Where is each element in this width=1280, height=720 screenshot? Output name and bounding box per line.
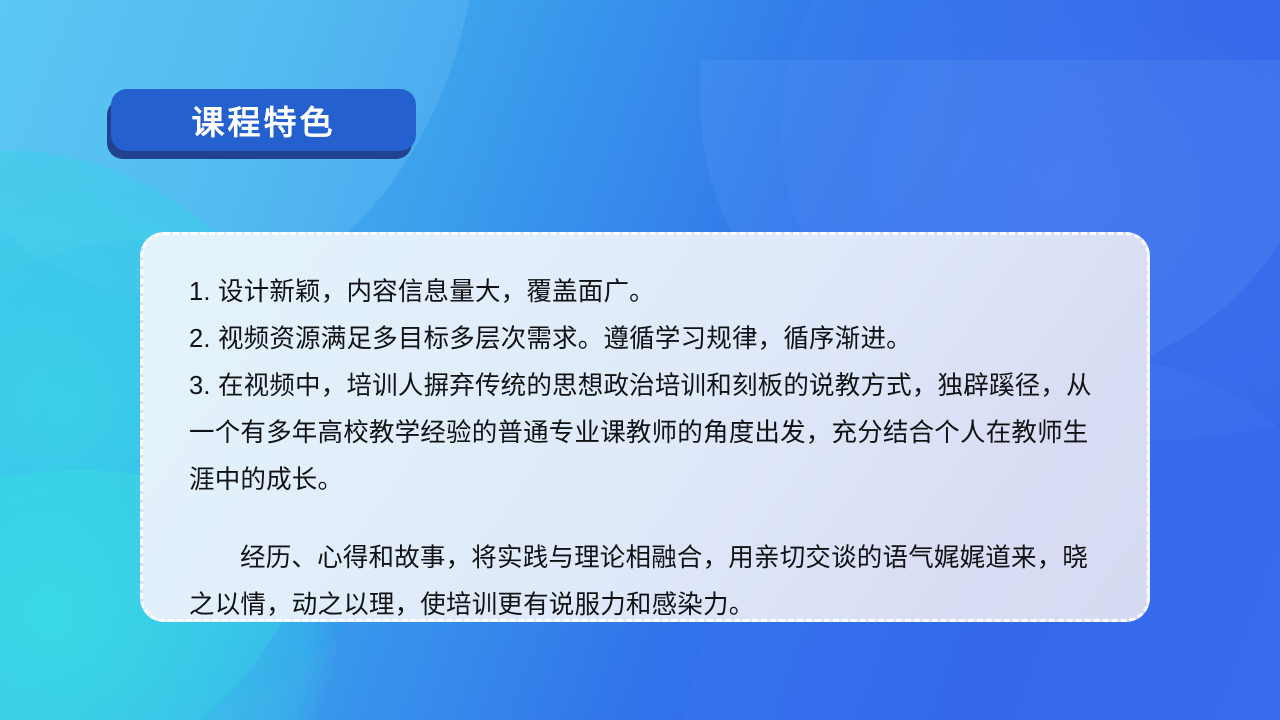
feature-content-card: 1. 设计新颖，内容信息量大，覆盖面广。 2. 视频资源满足多目标多层次需求。遵… [140,232,1150,622]
slide-root: 课程特色 1. 设计新颖，内容信息量大，覆盖面广。 2. 视频资源满足多目标多层… [0,0,1280,720]
section-title-badge: 课程特色 [107,89,412,159]
feature-item-1: 1. 设计新颖，内容信息量大，覆盖面广。 [189,269,1101,316]
feature-closing-paragraph: 经历、心得和故事，将实践与理论相融合，用亲切交谈的语气娓娓道来，晓之以情，动之以… [189,535,1101,629]
section-title-badge-body: 课程特色 [111,89,416,151]
feature-item-2: 2. 视频资源满足多目标多层次需求。遵循学习规律，循序渐进。 [189,316,1101,363]
section-title-label: 课程特色 [192,96,336,144]
feature-item-3: 3. 在视频中，培训人摒弃传统的思想政治培训和刻板的说教方式，独辟蹊径，从一个有… [189,363,1101,504]
